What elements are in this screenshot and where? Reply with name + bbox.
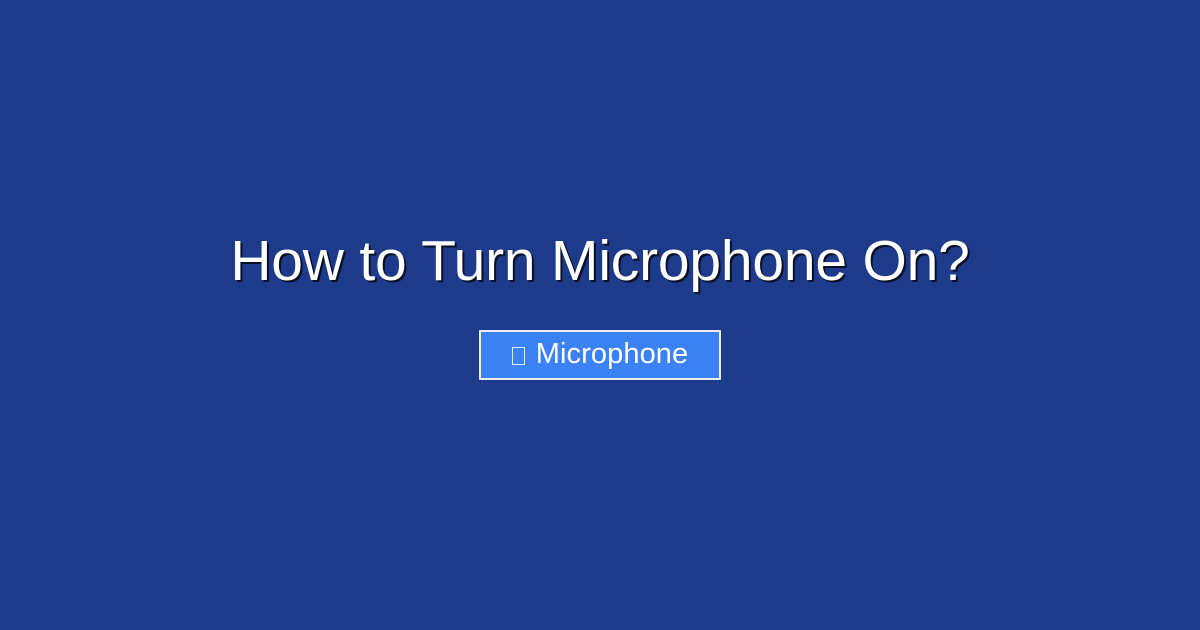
button-row: Microphone — [479, 330, 721, 380]
page-title: How to Turn Microphone On? — [230, 232, 969, 292]
microphone-icon — [512, 347, 525, 365]
slide-canvas: How to Turn Microphone On? Microphone — [0, 0, 1200, 630]
content-stack: How to Turn Microphone On? Microphone — [0, 232, 1200, 380]
microphone-button[interactable]: Microphone — [479, 330, 721, 380]
microphone-button-label: Microphone — [536, 340, 689, 369]
